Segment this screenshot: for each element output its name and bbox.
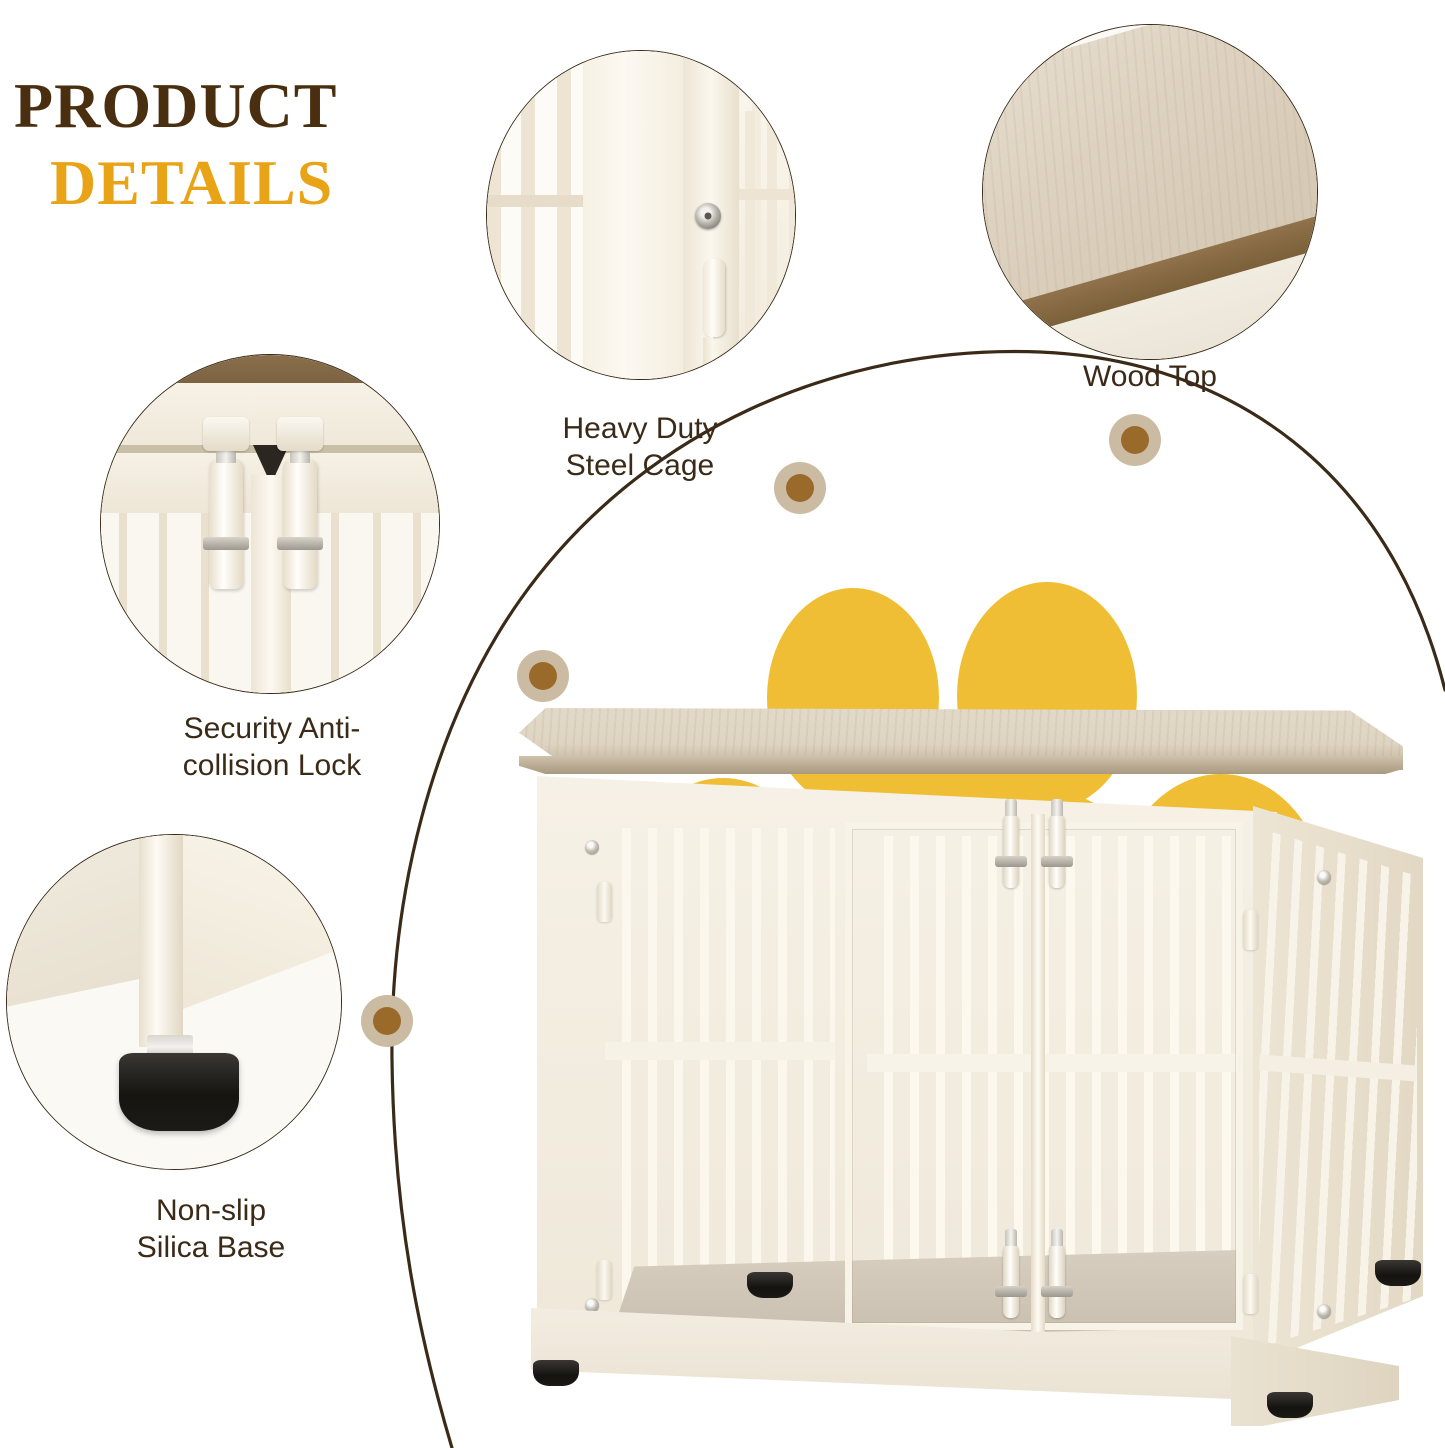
door-latch-bottom-left[interactable] <box>1003 1244 1019 1318</box>
base-right-panel <box>159 834 342 1035</box>
crate-wood-top-edge <box>519 756 1403 774</box>
lock-bolt-right <box>283 459 317 589</box>
crate-foot <box>1375 1260 1421 1286</box>
crate-foot <box>747 1272 793 1298</box>
lock-knob-left <box>203 417 249 451</box>
feature-label-wood-top: Wood Top <box>960 358 1340 395</box>
cage-left-bars <box>487 51 597 379</box>
door-hinge <box>597 882 612 922</box>
feature-label-steel-cage: Heavy Duty Steel Cage <box>444 410 836 484</box>
base-corner-leg <box>139 834 183 1047</box>
door-latch-top-right[interactable] <box>1049 814 1065 888</box>
arc-marker <box>1109 414 1161 466</box>
crate-foot <box>533 1360 579 1386</box>
screw-icon <box>585 840 599 854</box>
crate-base-panel <box>531 1308 1389 1412</box>
main-product-image <box>495 560 1435 1420</box>
arc-marker <box>361 995 413 1047</box>
dog-crate <box>495 560 1435 1420</box>
lock-photo-content <box>101 355 439 693</box>
crate-horizontal-rail <box>605 1042 835 1060</box>
door-hinge <box>597 1260 612 1300</box>
lock-knob-right <box>277 417 323 451</box>
crate-door-right[interactable] <box>1035 822 1243 1330</box>
feature-photo-wood-top <box>982 24 1318 360</box>
crate-foot <box>1267 1392 1313 1418</box>
silica-base-photo-content <box>7 835 341 1169</box>
product-details-infographic: PRODUCT DETAILS <box>0 0 1445 1448</box>
screw-icon <box>1317 870 1331 884</box>
cage-latch-bar <box>703 337 713 380</box>
feature-photo-silica-base <box>6 834 342 1170</box>
title-line-product: PRODUCT <box>14 72 444 139</box>
page-title: PRODUCT DETAILS <box>14 72 444 216</box>
crate-base-right <box>1231 1336 1399 1426</box>
door-latch-bottom-right[interactable] <box>1049 1244 1065 1318</box>
wood-top-photo-content <box>983 25 1317 359</box>
feature-photo-steel-cage <box>486 50 796 380</box>
lock-bolt-left <box>209 459 243 589</box>
crate-center-stile <box>1031 814 1045 1338</box>
feature-label-silica-base: Non-slip Silica Base <box>46 1192 376 1266</box>
door-latch-top-left[interactable] <box>1003 814 1019 888</box>
cage-latch-handle <box>703 259 725 337</box>
steel-cage-photo-content <box>487 51 795 379</box>
crate-left-opening <box>605 828 835 1318</box>
lock-top-rail <box>100 383 440 449</box>
feature-label-lock: Security Anti- collision Lock <box>92 710 452 784</box>
screw-icon <box>695 203 721 229</box>
feature-photo-lock <box>100 354 440 694</box>
base-rubber-foot <box>119 1053 239 1131</box>
crate-body <box>537 770 1383 1370</box>
crate-bars <box>605 828 835 1318</box>
crate-base-front <box>531 1308 1257 1412</box>
cage-right-bars <box>737 111 796 361</box>
door-hinge <box>1243 910 1258 950</box>
title-line-details: DETAILS <box>50 149 444 216</box>
